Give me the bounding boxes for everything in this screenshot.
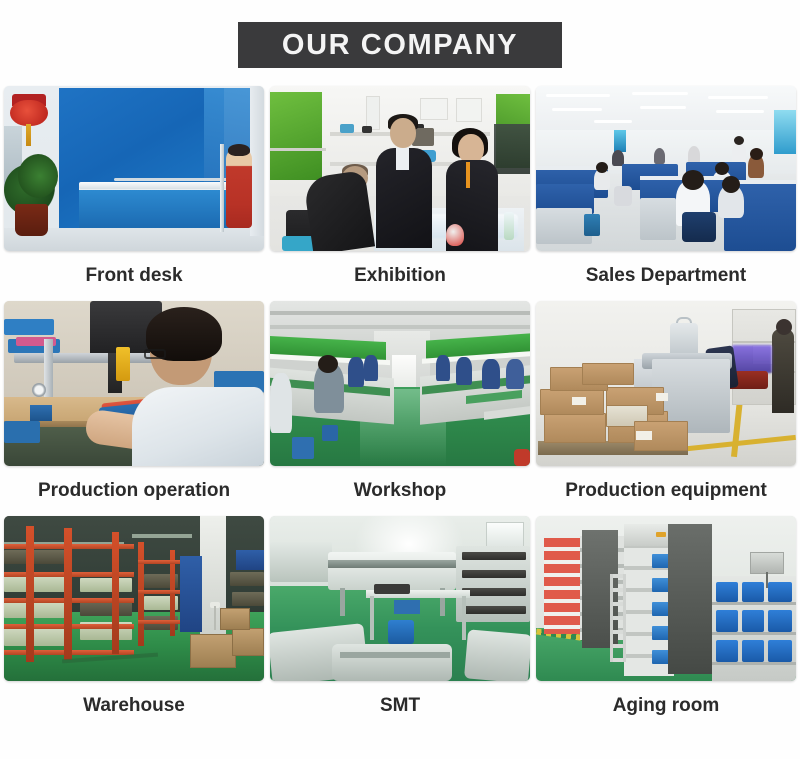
blue-parts-bin-1 — [4, 319, 54, 335]
visitor-1-body — [303, 170, 375, 251]
photo-smt[interactable] — [270, 516, 530, 681]
conveyor-left — [270, 542, 332, 582]
booth-poster-1 — [366, 96, 380, 130]
wall-poster-right — [774, 110, 796, 154]
glass-door-pole — [220, 144, 224, 232]
wall-poster-left — [614, 130, 626, 152]
rack-post-1 — [26, 526, 34, 662]
stock-a0 — [4, 550, 66, 564]
photo-warehouse[interactable] — [4, 516, 264, 681]
machine-rail — [14, 353, 164, 363]
blue-parts-bin-4 — [4, 421, 40, 443]
step-ladder — [610, 574, 626, 662]
battery-shelf-line-1 — [712, 602, 796, 605]
battery-pack-r3-2 — [742, 640, 764, 662]
page-title-wrap: OUR COMPANY — [0, 22, 800, 68]
rack-tray-1 — [462, 552, 526, 560]
blue-fixture-box — [30, 405, 52, 421]
caption-production-equipment: Production equipment — [536, 466, 796, 516]
worker-glasses — [144, 349, 166, 359]
photo-production-operation[interactable] — [4, 301, 264, 466]
stock-b1 — [80, 578, 132, 592]
photo-aging-room[interactable] — [536, 516, 796, 681]
booth-shelf-side — [270, 148, 326, 151]
rack-post-4 — [138, 542, 144, 646]
gallery-cell-sales-department[interactable]: Sales Department — [536, 86, 796, 301]
ceiling-beam-2 — [270, 325, 530, 329]
employee-far-2 — [654, 148, 665, 164]
work-stool-2 — [322, 425, 338, 441]
rack-post-3 — [112, 532, 119, 654]
caption-sales-department: Sales Department — [536, 251, 796, 301]
battery-pack-r1-1 — [716, 582, 738, 602]
aging-cabinet-top-unit — [624, 524, 674, 546]
work-stool-1 — [292, 437, 314, 459]
stock-a1 — [4, 576, 66, 592]
ceiling-light-5 — [640, 106, 686, 109]
gallery-cell-warehouse[interactable]: Warehouse — [4, 516, 264, 731]
battery-pack-r2-3 — [768, 610, 792, 632]
photo-sales-department[interactable] — [536, 86, 796, 251]
employee-mid-2-head — [715, 162, 729, 175]
photo-workshop[interactable] — [270, 301, 530, 466]
office-chair-2 — [614, 186, 632, 206]
ceiling-light-4 — [552, 108, 602, 111]
staff-lanyard — [466, 162, 470, 188]
foreground-trolley-right — [464, 629, 530, 681]
counter-rail — [114, 178, 234, 181]
employee-near-2-head — [722, 176, 740, 193]
doll-hair — [228, 144, 250, 156]
worker-left-near — [270, 373, 292, 433]
booth-dark-panel — [494, 124, 530, 174]
battery-pack-r3-3 — [768, 640, 792, 662]
worker-left-1-head — [318, 355, 338, 373]
carton-label-3 — [656, 393, 668, 401]
yellow-warning-block — [116, 347, 130, 381]
ceiling-light-3 — [708, 96, 768, 99]
equipment-operator — [772, 329, 794, 413]
blue-stool — [388, 620, 414, 644]
booth-poster-2 — [420, 98, 448, 120]
booth-poster-3 — [456, 98, 482, 122]
work-table-leg-2 — [462, 596, 466, 640]
gallery-cell-aging-room[interactable]: Aging room — [536, 516, 796, 731]
staff-man-shirt — [396, 148, 409, 170]
display-product-1 — [340, 124, 354, 133]
carton-row3-1 — [544, 413, 606, 443]
carton-label-2 — [572, 397, 586, 405]
ceiling-light-7 — [594, 120, 632, 123]
plant-pot — [15, 204, 48, 236]
reflow-oven-band — [328, 560, 456, 568]
warehouse-light-2 — [132, 534, 192, 538]
lantern-tassel — [26, 124, 31, 146]
pedestal-cabinet-1 — [640, 198, 676, 240]
rack-beam-8 — [138, 620, 182, 624]
photo-exhibition[interactable] — [270, 86, 530, 251]
caption-front-desk: Front desk — [4, 251, 264, 301]
photo-front-desk[interactable]: QUANXIN ELECTRONICS CO.,LTD — [4, 86, 264, 251]
red-lantern — [10, 100, 48, 126]
battery-pack-r1-3 — [768, 582, 792, 602]
gallery-cell-production-operation[interactable]: Production operation — [4, 301, 264, 516]
carton-row1-2 — [582, 363, 634, 385]
title-banner: OUR COMPANY — [238, 22, 562, 68]
water-bottle — [504, 212, 514, 240]
table-blue-bin — [394, 600, 420, 614]
carton-label-1 — [636, 431, 652, 440]
wall-column — [250, 86, 264, 236]
worker-left-3 — [364, 355, 378, 381]
wall-control-panel — [750, 552, 784, 574]
smt-window — [486, 522, 524, 548]
company-gallery-page: OUR COMPANY QUANXIN ELECTRONICS CO.,LTD — [0, 0, 800, 759]
aging-cabinet-dark-2 — [668, 524, 712, 674]
rack-beam-6 — [138, 560, 182, 564]
employee-standing — [732, 142, 746, 164]
rack-tray-3 — [462, 588, 526, 596]
stock-a2 — [4, 602, 66, 618]
staff-man-head — [390, 118, 416, 148]
caption-warehouse: Warehouse — [4, 681, 264, 731]
rack-tray-4 — [462, 606, 526, 614]
control-panel-wire — [766, 572, 768, 588]
waste-bin — [584, 214, 600, 236]
foreground-trolley-center — [332, 644, 452, 681]
caption-aging-room: Aging room — [536, 681, 796, 731]
caption-production-operation: Production operation — [4, 466, 264, 516]
rack-beam-7 — [138, 590, 182, 594]
stock-a3 — [4, 628, 66, 646]
worker-left-2 — [348, 357, 364, 387]
employee-mid-3-head — [750, 148, 763, 160]
table-item-dark — [374, 584, 410, 594]
battery-pack-r1-2 — [742, 582, 764, 602]
employee-mid-1-head — [596, 162, 608, 173]
cabinet-indicator — [656, 532, 666, 537]
stock-right-2 — [232, 592, 264, 606]
worker-right-4 — [506, 359, 524, 389]
stock-right-1 — [230, 572, 264, 586]
ceiling-light-6 — [716, 110, 764, 113]
photo-production-equipment[interactable] — [536, 301, 796, 466]
potted-plant-foliage-upper — [18, 154, 58, 198]
gallery-cell-workshop[interactable]: Workshop — [270, 301, 530, 516]
table-red-object — [446, 224, 464, 246]
blue-rack-right — [236, 550, 264, 570]
gallery-cell-production-equipment[interactable]: Production equipment — [536, 301, 796, 516]
floor-carton-3 — [220, 608, 250, 630]
ceiling-light-1 — [546, 94, 610, 97]
caption-exhibition: Exhibition — [270, 251, 530, 301]
floor-carton-2 — [232, 628, 264, 656]
gallery-cell-front-desk[interactable]: QUANXIN ELECTRONICS CO.,LTD Front desk — [4, 86, 264, 301]
page-title: OUR COMPANY — [282, 29, 518, 62]
battery-shelf-line-2 — [712, 632, 796, 635]
work-table-leg-1 — [370, 596, 374, 640]
battery-pack-r2-2 — [742, 610, 764, 632]
oven-leg-1 — [340, 588, 345, 616]
employee-near-1-head — [682, 170, 704, 190]
equipment-operator-head — [776, 319, 792, 335]
caption-workshop: Workshop — [270, 466, 530, 516]
worker-body — [132, 387, 264, 466]
ceiling-beam-1 — [270, 311, 530, 315]
gallery-cell-smt[interactable]: SMT — [270, 516, 530, 731]
booth-green-panel-left — [270, 92, 322, 180]
floor-carton-1 — [190, 634, 236, 668]
red-object-foreground — [514, 449, 530, 466]
display-product-2 — [362, 126, 372, 133]
battery-shelf-line-3 — [712, 662, 796, 665]
ceiling-light-2 — [632, 92, 688, 95]
rack-tray-2 — [462, 570, 526, 578]
worker-right-1 — [436, 355, 450, 381]
decorative-doll — [226, 148, 252, 228]
employee-standing-head — [734, 136, 744, 145]
worker-right-3 — [482, 359, 500, 389]
machine-post — [44, 339, 53, 405]
gallery-cell-exhibition[interactable]: Exhibition — [270, 86, 530, 301]
battery-pack-r2-1 — [716, 610, 738, 632]
rack-post-2 — [64, 528, 72, 660]
pressure-gauge — [32, 383, 46, 397]
worker-right-2 — [456, 357, 472, 385]
blue-rack — [180, 556, 202, 632]
battery-pack-r3-1 — [716, 640, 738, 662]
photo-grid: QUANXIN ELECTRONICS CO.,LTD Front desk — [4, 86, 796, 731]
floor-lamp-pole — [214, 606, 216, 630]
caption-smt: SMT — [270, 681, 530, 731]
trolley-rail — [340, 652, 450, 658]
office-chair-1 — [682, 212, 716, 242]
uv-lamp-glow — [732, 345, 772, 373]
